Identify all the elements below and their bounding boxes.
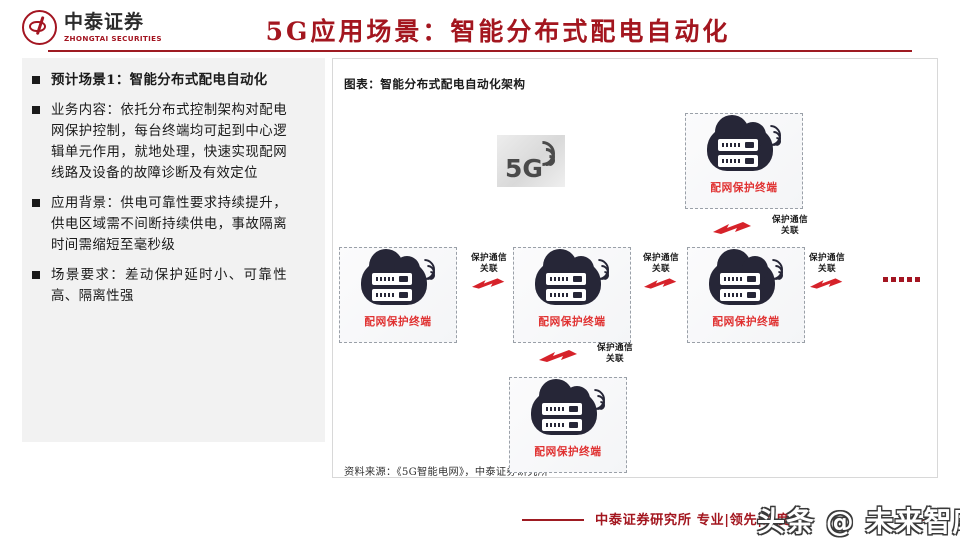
list-item: 业务内容：依托分布式控制架构对配电网保护控制，每台终端均可起到中心逻辑单元作用，… bbox=[32, 100, 322, 184]
wifi-signal-icon bbox=[761, 121, 783, 147]
cloud-server-icon bbox=[705, 117, 783, 179]
cloud-server-icon bbox=[529, 381, 607, 443]
wifi-signal-icon bbox=[585, 385, 607, 411]
node-center[interactable]: 配网保护终端 bbox=[513, 247, 631, 343]
lightning-bolt-icon bbox=[713, 221, 753, 235]
link-label-line2: 关联 bbox=[629, 264, 693, 275]
watermark: 头条 @ 未来智库 bbox=[757, 500, 960, 540]
footer-divider-left bbox=[522, 519, 584, 521]
node-left[interactable]: 配网保护终端 bbox=[339, 247, 457, 343]
node-top-right[interactable]: 配网保护终端 bbox=[685, 113, 803, 209]
logo-name-cn: 中泰证券 bbox=[64, 13, 162, 32]
node-label: 配网保护终端 bbox=[364, 314, 431, 329]
wifi-signal-icon bbox=[533, 141, 557, 167]
link-label-line2: 关联 bbox=[760, 226, 820, 237]
node-label: 配网保护终端 bbox=[538, 314, 605, 329]
lightning-bolt-icon bbox=[472, 277, 506, 290]
link-right-topright: 保护通信 关联 bbox=[760, 215, 820, 237]
bullet-square-icon bbox=[32, 199, 40, 207]
logo-text: 中泰证券 ZHONGTAI SECURITIES bbox=[64, 13, 162, 42]
bullet-text: 场景要求：差动保护延时小、可靠性高、隔离性强 bbox=[51, 265, 287, 307]
list-item: 预计场景1：智能分布式配电自动化 bbox=[32, 70, 322, 91]
link-label-line2: 关联 bbox=[795, 264, 859, 275]
link-label-line1: 保护通信 bbox=[629, 253, 693, 264]
link-label-line1: 保护通信 bbox=[585, 343, 645, 354]
more-nodes-ellipsis bbox=[883, 277, 920, 282]
wifi-signal-icon bbox=[589, 255, 611, 281]
lightning-bolt-icon bbox=[810, 277, 844, 290]
bullet-list: 预计场景1：智能分布式配电自动化 业务内容：依托分布式控制架构对配电网保护控制，… bbox=[32, 70, 322, 316]
5g-badge-icon: 5G bbox=[497, 135, 565, 187]
node-label: 配网保护终端 bbox=[710, 180, 777, 195]
zhongtai-logo-icon bbox=[22, 10, 57, 45]
link-left-center: 保护通信 关联 bbox=[457, 253, 521, 294]
lightning-bolt-icon bbox=[539, 349, 579, 363]
logo-name-en: ZHONGTAI SECURITIES bbox=[64, 35, 162, 42]
wifi-signal-icon bbox=[763, 255, 785, 281]
link-label-line1: 保护通信 bbox=[795, 253, 859, 264]
link-right-more: 保护通信 关联 bbox=[795, 253, 859, 294]
node-bottom[interactable]: 配网保护终端 bbox=[509, 377, 627, 473]
list-item: 场景要求：差动保护延时小、可靠性高、隔离性强 bbox=[32, 265, 322, 307]
title-divider bbox=[48, 50, 912, 52]
wifi-signal-icon bbox=[415, 255, 437, 281]
bullet-text: 预计场景1：智能分布式配电自动化 bbox=[51, 70, 287, 91]
bullet-square-icon bbox=[32, 76, 40, 84]
link-center-right: 保护通信 关联 bbox=[629, 253, 693, 294]
cloud-server-icon bbox=[707, 251, 785, 313]
bullet-square-icon bbox=[32, 271, 40, 279]
link-label-line1: 保护通信 bbox=[760, 215, 820, 226]
bullet-text: 应用背景：供电可靠性要求持续提升，供电区域需不间断持续供电，事故隔离时间需缩短至… bbox=[51, 193, 287, 256]
page-title: 5G应用场景：智能分布式配电自动化 bbox=[218, 12, 778, 48]
cloud-server-icon bbox=[359, 251, 437, 313]
cloud-server-icon bbox=[533, 251, 611, 313]
link-label-line1: 保护通信 bbox=[457, 253, 521, 264]
node-label: 配网保护终端 bbox=[712, 314, 779, 329]
node-label: 配网保护终端 bbox=[534, 444, 601, 459]
bullet-square-icon bbox=[32, 106, 40, 114]
architecture-diagram: 5G 配网保护终端 bbox=[333, 95, 937, 455]
company-logo: 中泰证券 ZHONGTAI SECURITIES bbox=[22, 10, 162, 45]
node-right[interactable]: 配网保护终端 bbox=[687, 247, 805, 343]
figure-caption: 图表：智能分布式配电自动化架构 bbox=[344, 76, 525, 92]
link-label-line2: 关联 bbox=[585, 354, 645, 365]
lightning-bolt-icon bbox=[644, 277, 678, 290]
slide: 中泰证券 ZHONGTAI SECURITIES 5G应用场景：智能分布式配电自… bbox=[0, 0, 960, 540]
list-item: 应用背景：供电可靠性要求持续提升，供电区域需不间断持续供电，事故隔离时间需缩短至… bbox=[32, 193, 322, 256]
link-label-line2: 关联 bbox=[457, 264, 521, 275]
link-center-bottom: 保护通信 关联 bbox=[585, 343, 645, 365]
bullet-text: 业务内容：依托分布式控制架构对配电网保护控制，每台终端均可起到中心逻辑单元作用，… bbox=[51, 100, 287, 184]
